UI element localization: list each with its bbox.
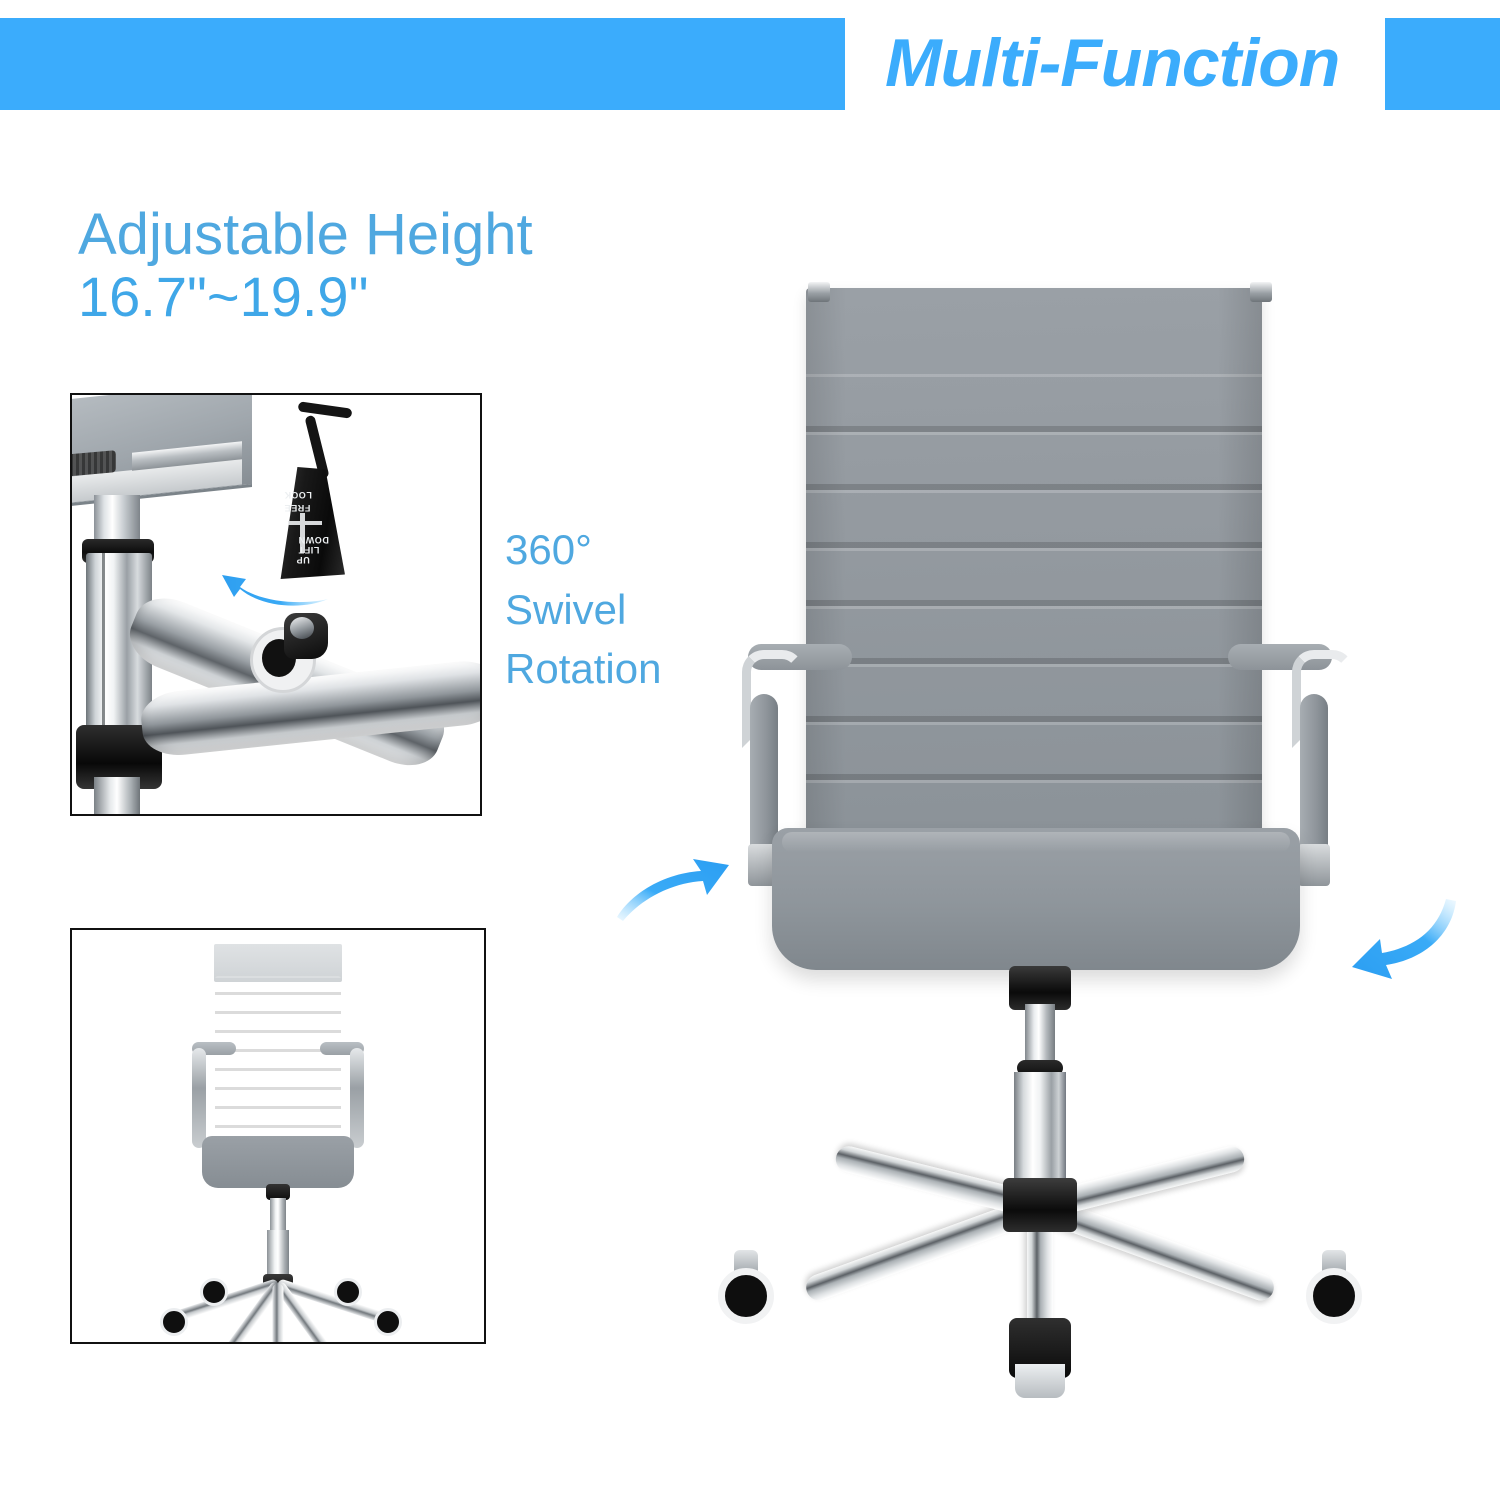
backrest-ribbing bbox=[806, 374, 1262, 848]
fv-caster bbox=[200, 1278, 228, 1306]
gas-lift-scene: LOCK FREE DOWN LIFT UP bbox=[72, 395, 480, 814]
fv-backrest bbox=[215, 976, 341, 1144]
armrest-pad-right bbox=[1300, 694, 1328, 862]
header-bar-right bbox=[1385, 18, 1500, 110]
backrest-clip-left bbox=[808, 282, 830, 302]
backrest-shade-right bbox=[1218, 288, 1262, 848]
backrest bbox=[806, 288, 1262, 848]
caster-tyre bbox=[718, 1268, 774, 1324]
lever-label-lock: LOCK bbox=[284, 490, 312, 500]
backrest-shade-left bbox=[806, 288, 846, 848]
fv-caster-front bbox=[267, 1342, 299, 1344]
caster-wheel-front bbox=[1009, 1318, 1071, 1378]
gas-cylinder bbox=[1014, 1072, 1066, 1192]
piston-rod bbox=[1025, 1004, 1055, 1066]
main-product-image bbox=[700, 260, 1380, 1440]
caster-hub bbox=[284, 613, 328, 659]
backrest-clip-right bbox=[1250, 282, 1272, 302]
photo-gas-lift-detail: LOCK FREE DOWN LIFT UP bbox=[70, 393, 482, 816]
fv-armrest-left bbox=[192, 1048, 206, 1148]
caster-wheel bbox=[250, 613, 324, 687]
fv-seat bbox=[202, 1136, 354, 1188]
caster-tyre bbox=[1306, 1268, 1362, 1324]
infographic-canvas: Multi-Function Adjustable Height 16.7"~1… bbox=[0, 0, 1500, 1500]
curved-arrow-right-icon bbox=[1330, 895, 1460, 990]
fv-armrest-right bbox=[350, 1048, 364, 1148]
gas-base-stub bbox=[94, 777, 140, 816]
curved-arrow-icon bbox=[222, 555, 332, 607]
fv-caster bbox=[334, 1278, 362, 1306]
fv-caster bbox=[374, 1308, 402, 1336]
lever-arm-horizontal bbox=[298, 401, 353, 418]
seat-cushion bbox=[772, 828, 1300, 970]
adjustable-height-block: Adjustable Height 16.7"~19.9" bbox=[78, 205, 678, 329]
caster-wheel bbox=[718, 1268, 774, 1324]
adjustable-height-range: 16.7"~19.9" bbox=[78, 266, 678, 329]
caster-wheel bbox=[1306, 1268, 1362, 1324]
armrest-foot-right bbox=[1298, 844, 1330, 886]
lever-label-down: DOWN bbox=[298, 535, 329, 545]
base-hub bbox=[1003, 1178, 1077, 1232]
lever-label-free: FREE bbox=[284, 503, 310, 513]
front-view-scene bbox=[72, 930, 484, 1342]
fv-base-leg bbox=[273, 1284, 284, 1345]
fv-caster bbox=[160, 1308, 188, 1336]
photo-chair-front-view bbox=[70, 928, 486, 1344]
lever-label-lift: LIFT bbox=[298, 545, 319, 555]
page-title: Multi-Function bbox=[885, 10, 1385, 115]
curved-arrow-left-icon bbox=[615, 845, 735, 930]
adjustable-height-label: Adjustable Height bbox=[78, 205, 678, 266]
header-bar-left bbox=[0, 18, 845, 110]
